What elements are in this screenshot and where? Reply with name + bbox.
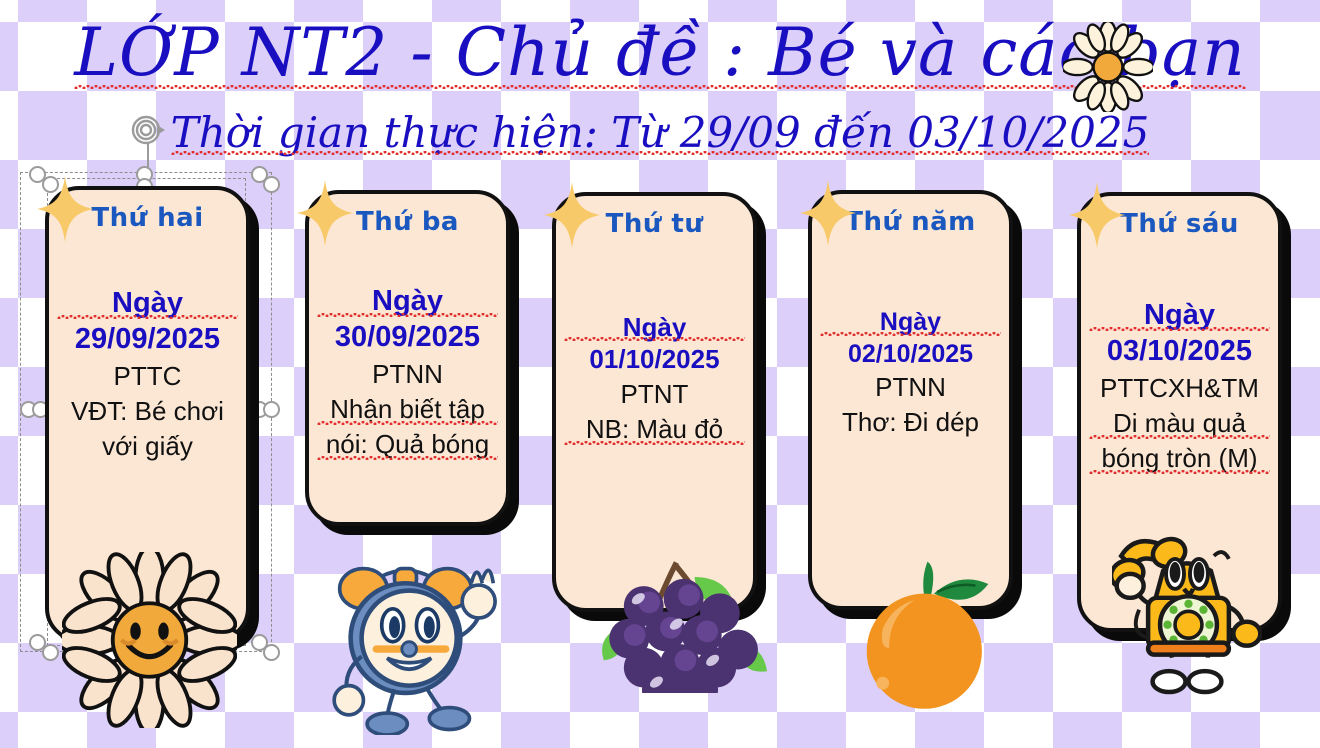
- card-body: Ngày 02/10/2025 PTNN Thơ: Đi dép: [820, 307, 1001, 441]
- card-body: Ngày 03/10/2025 PTTCXH&TM Di màu quả bón…: [1089, 297, 1270, 476]
- card-code: PTTC: [57, 359, 238, 394]
- smiling-daisy-icon: [62, 552, 237, 728]
- sparkle-icon: [37, 176, 93, 242]
- rotary-phone-character-icon: [1112, 532, 1262, 704]
- card-body: Ngày 01/10/2025 PTNT NB: Màu đỏ: [564, 311, 745, 447]
- card-body: Ngày 30/09/2025 PTNN Nhận biết tập nói: …: [317, 283, 498, 462]
- card-code: PTNN: [317, 357, 498, 392]
- card-activity-line1: Di màu quả: [1089, 406, 1270, 441]
- grapes-icon: [585, 548, 775, 693]
- card-activity-line1: Nhận biết tập: [317, 392, 498, 427]
- card-date: 30/09/2025: [317, 319, 498, 357]
- card-code: PTNN: [820, 370, 1001, 405]
- orange-fruit-icon: [845, 552, 1010, 712]
- card-ngay-label: Ngày: [1089, 297, 1270, 333]
- card-activity-line2: bóng tròn (M): [1089, 441, 1270, 476]
- card-date: 29/09/2025: [57, 321, 238, 359]
- sparkle-icon: [1069, 182, 1125, 248]
- card-code: PTNT: [564, 377, 745, 412]
- card-code: PTTCXH&TM: [1089, 371, 1270, 406]
- card-body: Ngày 29/09/2025 PTTC VĐT: Bé chơi với gi…: [57, 285, 238, 464]
- card-date: 02/10/2025: [820, 338, 1001, 371]
- card-ngay-label: Ngày: [317, 283, 498, 319]
- sparkle-icon: [800, 180, 856, 246]
- card-activity-line1: NB: Màu đỏ: [564, 412, 745, 447]
- card-activity-line1: Thơ: Đi dép: [820, 405, 1001, 440]
- card-date: 01/10/2025: [564, 343, 745, 377]
- card-ngay-label: Ngày: [57, 285, 238, 321]
- weekday-card-thursday[interactable]: Thứ năm Ngày 02/10/2025 PTNN Thơ: Đi dép: [808, 190, 1013, 610]
- card-ngay-label: Ngày: [564, 311, 745, 344]
- sparkle-icon: [544, 182, 600, 248]
- weekday-card-tuesday[interactable]: Thứ ba Ngày 30/09/2025 PTNN Nhận biết tậ…: [305, 190, 510, 526]
- card-activity-line2: với giấy: [57, 429, 238, 464]
- card-activity-line2: nói: Quả bóng: [317, 427, 498, 462]
- alarm-clock-character-icon: [314, 543, 497, 735]
- sparkle-icon: [297, 180, 353, 246]
- card-ngay-label: Ngày: [820, 307, 1001, 338]
- card-date: 03/10/2025: [1089, 333, 1270, 371]
- card-activity-line1: VĐT: Bé chơi: [57, 394, 238, 429]
- weekday-card-grid: Thứ hai Ngày 29/09/2025 PTTC VĐT: Bé chơ…: [0, 0, 1320, 748]
